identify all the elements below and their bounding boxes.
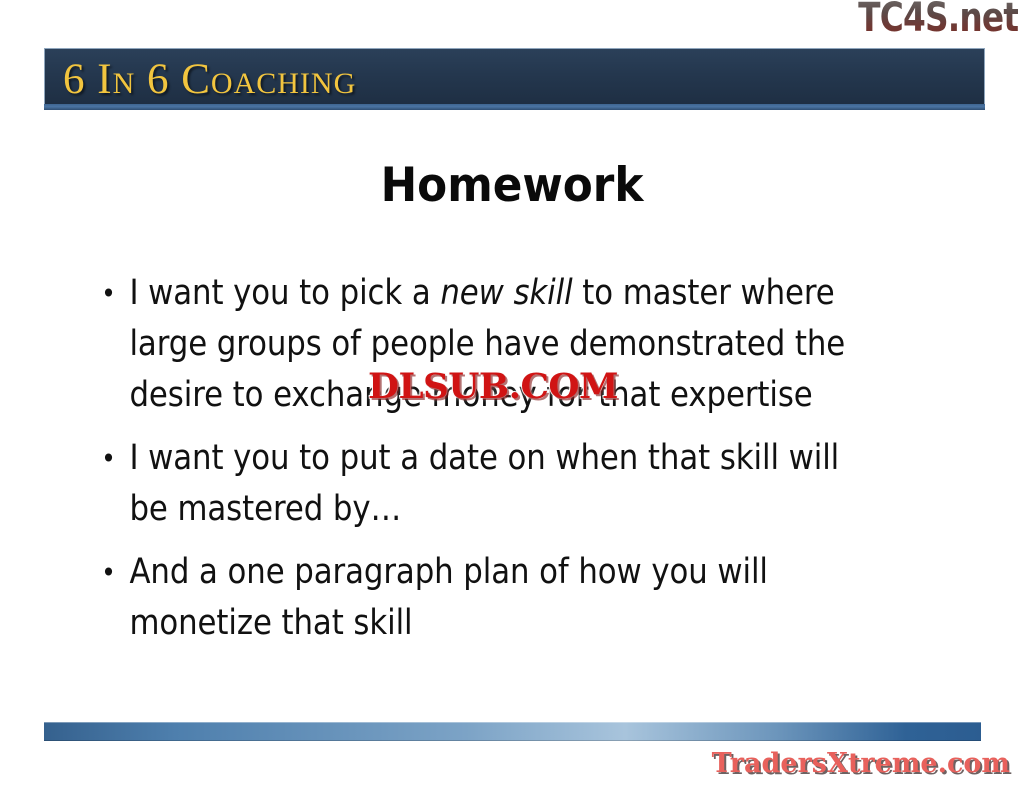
page-title: Homework [36,158,988,214]
list-item-text-part: I want you to pick a [129,273,440,313]
header-banner-underline [44,104,985,110]
bullet-marker-icon: • [101,433,115,484]
list-item-text-emphasis: new skill [440,273,572,313]
list-item: • And a one paragraph plan of how you wi… [96,547,853,649]
list-item-text: I want you to put a date on when that sk… [129,438,839,529]
tc4s-site-watermark: TC4S.net [858,0,1018,40]
tradersxtreme-footer-watermark: TradersXtreme.com [712,748,1010,780]
dlsub-overlay-watermark: DLSUB.COM [368,368,618,406]
bullet-marker-icon: • [101,547,115,598]
list-item: • I want you to put a date on when that … [96,433,853,535]
list-item-text: And a one paragraph plan of how you will… [129,552,767,643]
slide-header-banner: 6 In 6 Coaching [44,48,985,110]
bullet-list: • I want you to pick a new skill to mast… [96,268,956,661]
footer-divider-bar [44,722,981,741]
presentation-slide: TC4S.net 6 In 6 Coaching Homework • I wa… [0,0,1024,791]
header-banner-title: 6 In 6 Coaching [63,53,356,107]
bullet-marker-icon: • [101,268,115,319]
